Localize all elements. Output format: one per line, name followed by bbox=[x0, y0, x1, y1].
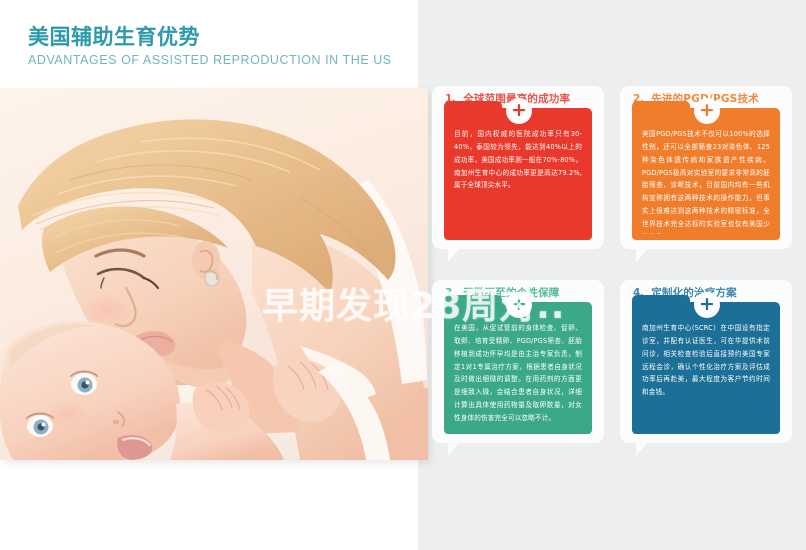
mother-baby-illustration bbox=[0, 88, 428, 460]
advantage-card-2[interactable]: 2、先进的PGD/PGS技术 + 美国PGD/PGS技术不仅可以100%的选择性… bbox=[620, 86, 792, 264]
card-body-3: 在美国，从促试管前的身体检查、促卵、取卵、培育受精卵、PGD/PGS筛查、胚胎移… bbox=[454, 322, 582, 428]
card-body-1: 目前，国内权威的医院成功率只有30-40%，泰国较为领先，能达到40%以上的成功… bbox=[454, 128, 582, 234]
plus-icon-badge-4[interactable]: + bbox=[694, 292, 720, 318]
plus-icon: + bbox=[699, 295, 715, 314]
plus-icon: + bbox=[511, 101, 527, 120]
card-tail-4 bbox=[636, 441, 649, 456]
card-tail-3 bbox=[448, 441, 461, 456]
plus-icon: + bbox=[699, 101, 715, 120]
page-header: 美国辅助生育优势 ADVANTAGES OF ASSISTED REPRODUC… bbox=[0, 0, 418, 88]
page-title-en: ADVANTAGES OF ASSISTED REPRODUCTION IN T… bbox=[28, 53, 418, 68]
card-tail-2 bbox=[636, 247, 649, 262]
card-body-2: 美国PGD/PGS技术不仅可以100%的选择性别，还可以全部筛查23对染色体、1… bbox=[642, 128, 770, 234]
advantage-card-4[interactable]: 4、定制化的治疗方案 + 南加州生育中心(SCRC）在中国设有指定诊室，并配有认… bbox=[620, 280, 792, 458]
advantage-card-3[interactable]: 3、无微不至的个性保障 + 在美国，从促试管前的身体检查、促卵、取卵、培育受精卵… bbox=[432, 280, 604, 458]
plus-icon: + bbox=[511, 295, 527, 314]
plus-icon-badge-1[interactable]: + bbox=[506, 98, 532, 124]
card-folder-3: + 在美国，从促试管前的身体检查、促卵、取卵、培育受精卵、PGD/PGS筛查、胚… bbox=[444, 304, 592, 434]
hero-photo bbox=[0, 88, 428, 460]
card-body-4: 南加州生育中心(SCRC）在中国设有指定诊室，并配有认证医生，可在华提供术前问诊… bbox=[642, 322, 770, 428]
card-folder-4: + 南加州生育中心(SCRC）在中国设有指定诊室，并配有认证医生，可在华提供术前… bbox=[632, 304, 780, 434]
card-folder-1: + 目前，国内权威的医院成功率只有30-40%，泰国较为领先，能达到40%以上的… bbox=[444, 110, 592, 240]
card-tail-1 bbox=[448, 247, 461, 262]
card-folder-2: + 美国PGD/PGS技术不仅可以100%的选择性别，还可以全部筛查23对染色体… bbox=[632, 110, 780, 240]
plus-icon-badge-3[interactable]: + bbox=[506, 292, 532, 318]
page-title-cn: 美国辅助生育优势 bbox=[28, 24, 418, 50]
page-root: 美国辅助生育优势 ADVANTAGES OF ASSISTED REPRODUC… bbox=[0, 0, 806, 550]
advantage-card-1[interactable]: 1、全球范围最高的成功率 + 目前，国内权威的医院成功率只有30-40%，泰国较… bbox=[432, 86, 604, 264]
plus-icon-badge-2[interactable]: + bbox=[694, 98, 720, 124]
advantages-card-grid: 1、全球范围最高的成功率 + 目前，国内权威的医院成功率只有30-40%，泰国较… bbox=[432, 86, 792, 466]
